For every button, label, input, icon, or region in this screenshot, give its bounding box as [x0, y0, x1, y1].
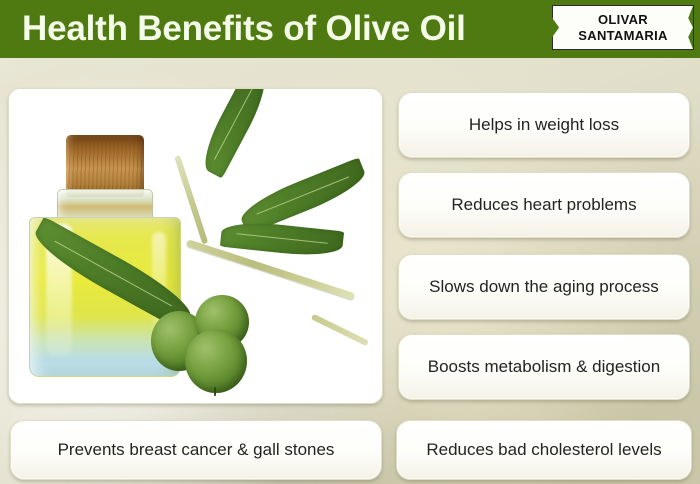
- brand-name-line-1: OLIVAR: [598, 12, 648, 28]
- olive-oil-image-panel: [8, 88, 383, 404]
- benefit-card-aging-process: Slows down the aging process: [398, 254, 690, 320]
- cork-stopper: [66, 135, 144, 197]
- green-olive-fruit: [185, 329, 247, 393]
- olive-leaf-icon: [220, 219, 344, 260]
- brand-badge: OLIVAR SANTAMARIA: [552, 5, 694, 50]
- benefit-label: Helps in weight loss: [461, 114, 627, 136]
- benefit-card-weight-loss: Helps in weight loss: [398, 92, 690, 158]
- benefit-label: Reduces bad cholesterol levels: [418, 439, 669, 461]
- page-title: Health Benefits of Olive Oil: [22, 7, 466, 51]
- benefit-card-heart-problems: Reduces heart problems: [398, 172, 690, 238]
- olive-leaf-icon: [195, 88, 274, 178]
- benefit-card-breast-cancer-gall-stones: Prevents breast cancer & gall stones: [10, 420, 382, 480]
- infographic-root: Health Benefits of Olive Oil OLIVAR SANT…: [0, 0, 700, 484]
- benefit-card-bad-cholesterol: Reduces bad cholesterol levels: [396, 420, 692, 480]
- olive-branch-stem-tip: [311, 314, 369, 347]
- brand-name-line-2: SANTAMARIA: [578, 28, 667, 44]
- olive-oil-photo: [9, 89, 382, 403]
- benefit-card-metabolism-digestion: Boosts metabolism & digestion: [398, 334, 690, 400]
- benefit-label: Boosts metabolism & digestion: [420, 356, 668, 378]
- benefit-label: Reduces heart problems: [443, 194, 644, 216]
- benefit-label: Prevents breast cancer & gall stones: [50, 439, 343, 461]
- benefit-label: Slows down the aging process: [421, 276, 667, 298]
